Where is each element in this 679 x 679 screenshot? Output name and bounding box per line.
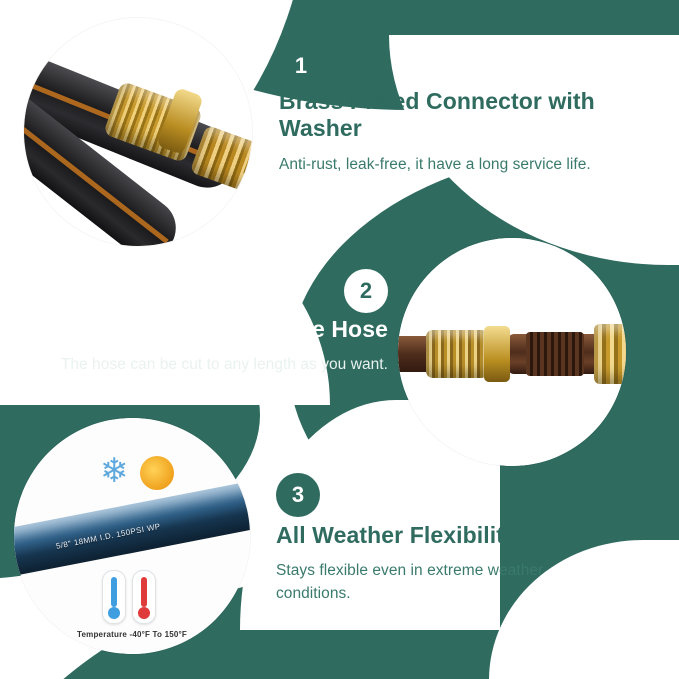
temperature-caption: Temperature -40°F To 150°F [14,630,250,639]
feature-block-3: All Weather Flexibility Stays flexible e… [276,522,594,605]
sun-icon [140,456,174,490]
hose-ribbed-insert [526,332,584,376]
hot-thermometer-icon [132,570,156,624]
feature-block-1: Brass Plated Connector with Washer Anti-… [279,88,609,177]
feature-title-3: All Weather Flexibility [276,522,594,549]
all-weather-hose-photo: 5/8" 18MM I.D. 150PSI WP ❄ Temperature -… [14,418,250,654]
hot-thermometer-bulb [138,607,150,619]
feature-number-badge-3: 3 [276,473,320,517]
brass-coupling-nut [484,326,510,382]
feature-title-2: Re-installed Customize Hose [40,316,388,343]
hot-thermometer-stem [141,577,147,607]
feature-description-1: Anti-rust, leak-free, it have a long ser… [279,154,609,176]
cold-thermometer-stem [111,577,117,607]
feature-description-3: Stays flexible even in extreme weather c… [276,560,594,605]
brass-connector-photo [24,18,252,246]
feature-number-badge-1: 1 [279,44,323,88]
feature-number-badge-2: 2 [344,269,388,313]
feature-block-2: Re-installed Customize Hose The hose can… [40,316,388,377]
infographic-canvas: 5/8" 18MM I.D. 150PSI WP ❄ Temperature -… [0,0,679,679]
brass-repair-connector [426,330,488,378]
brass-clamp-ring [594,324,626,384]
snowflake-icon: ❄ [100,454,129,488]
feature-description-2: The hose can be cut to any length as you… [40,354,388,376]
cold-thermometer-bulb [108,607,120,619]
hose-repair-photo [398,238,626,466]
cold-thermometer-icon [102,570,126,624]
feature-title-1: Brass Plated Connector with Washer [279,88,609,142]
